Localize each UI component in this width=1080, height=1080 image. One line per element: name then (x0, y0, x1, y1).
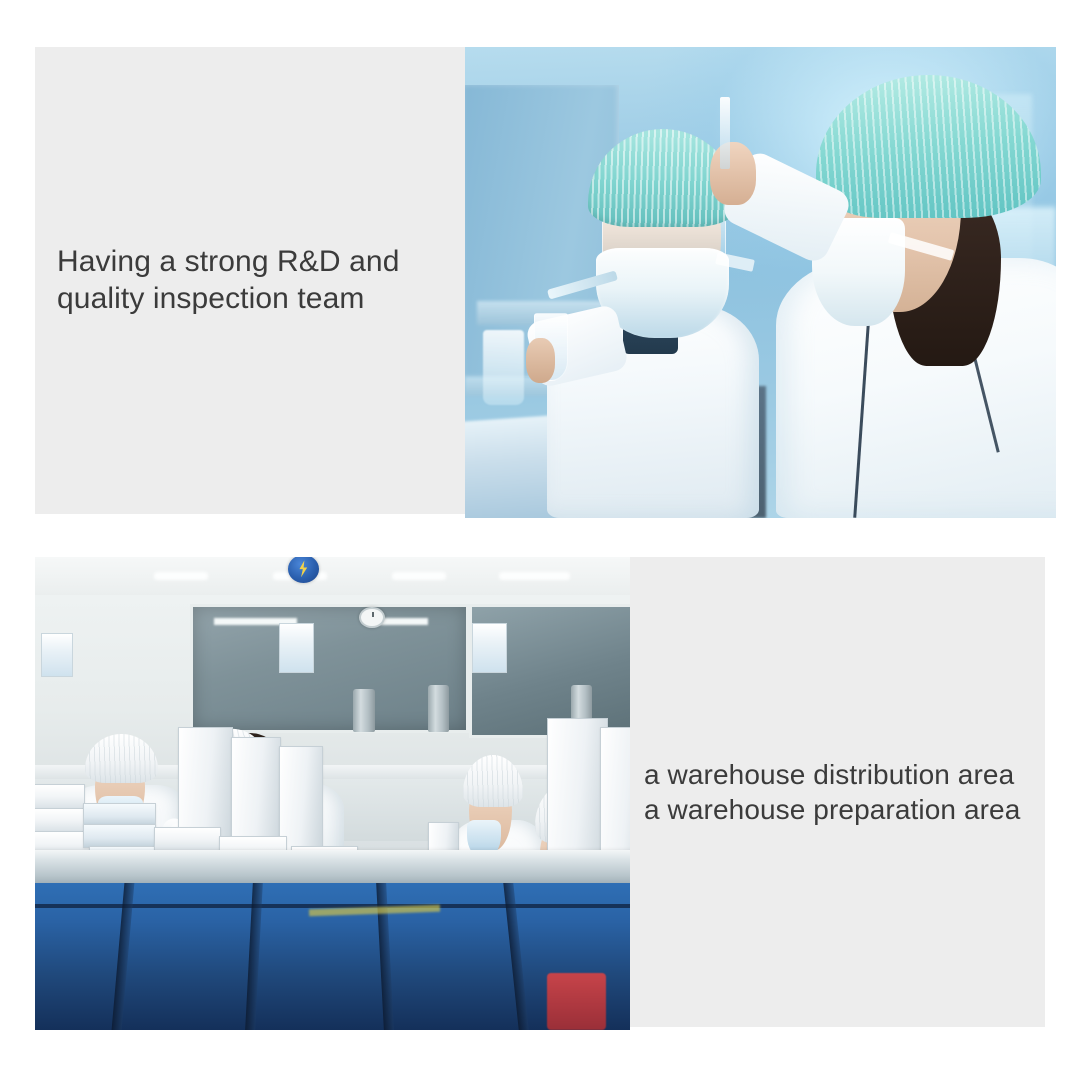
red-bin-foreground (547, 973, 607, 1030)
hairnet-cap-profile (816, 75, 1041, 218)
rd-quality-photo (465, 47, 1056, 518)
rd-quality-caption-panel: Having a strong R&D and quality inspecti… (35, 47, 465, 514)
carton-stack-back-left-2 (231, 737, 281, 853)
warehouse-caption-text: a warehouse distribution area a warehous… (630, 757, 1026, 827)
lab-beaker (483, 330, 524, 405)
steel-table-top (35, 850, 630, 885)
rd-quality-caption-text: Having a strong R&D and quality inspecti… (35, 244, 409, 317)
worker-hairnet-right-back (463, 755, 523, 807)
carton-table-1 (83, 803, 156, 826)
wall-notice-2 (472, 623, 507, 672)
lightning-bolt-icon (297, 560, 310, 577)
ceiling-light-1 (154, 572, 208, 580)
section-rd-quality: Having a strong R&D and quality inspecti… (35, 47, 1056, 518)
carton-table-2 (83, 824, 156, 847)
brochure-page: Having a strong R&D and quality inspecti… (0, 0, 1080, 1080)
carton-table-4 (154, 827, 221, 853)
steel-canister-2 (428, 685, 449, 732)
lab-test-tube (720, 97, 730, 169)
lab-hand-front (526, 338, 556, 383)
ceiling-light-4 (499, 572, 570, 580)
warehouse-photo (35, 557, 630, 1030)
worker-hairnet-left (85, 734, 158, 783)
electrical-hazard-sign (288, 557, 319, 583)
lab-hand-profile (710, 142, 756, 205)
lab-scene-background (465, 47, 1056, 518)
wall-notice-1 (279, 623, 314, 672)
warehouse-scene-background (35, 557, 630, 1030)
steel-canister-1 (353, 689, 374, 732)
lab-technician-profile (743, 71, 1056, 518)
ceiling-light-3 (392, 572, 446, 580)
section-warehouse-areas: a warehouse distribution area a warehous… (35, 557, 1045, 1030)
wall-notice-3 (41, 633, 73, 678)
carton-left-edge-1 (35, 784, 85, 810)
warehouse-caption-panel: a warehouse distribution area a warehous… (630, 557, 1045, 1027)
wall-clock-icon (359, 607, 384, 628)
carton-stack-far-right (547, 718, 609, 852)
carton-stack-far-right-2 (600, 727, 630, 852)
carton-left-edge-2 (35, 808, 85, 834)
